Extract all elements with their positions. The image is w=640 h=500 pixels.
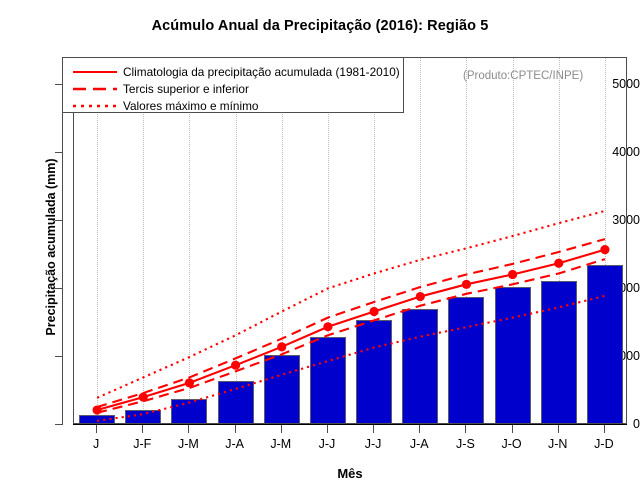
climatology-point xyxy=(508,270,517,279)
climatology-point xyxy=(323,322,332,331)
legend-item-0: Climatologia da precipitação acumulada (… xyxy=(63,64,403,80)
legend-label: Valores máximo e mínimo xyxy=(123,99,259,113)
x-tick xyxy=(373,425,374,433)
line-dotted xyxy=(97,211,605,398)
page-title: Acúmulo Anual da Precipitação (2016): Re… xyxy=(0,18,640,34)
line-solid xyxy=(97,250,605,410)
legend-label: Tercis superior e inferior xyxy=(123,82,249,96)
legend-item-2: Valores máximo e mínimo xyxy=(63,98,403,114)
x-tick-label-J-A: J-A xyxy=(410,437,429,451)
climatology-point xyxy=(139,393,148,402)
x-tick xyxy=(327,425,328,433)
x-tick-label-J-F: J-F xyxy=(133,437,151,451)
x-tick xyxy=(419,425,420,433)
legend: Climatologia da precipitação acumulada (… xyxy=(62,57,404,113)
chart-figure: Acúmulo Anual da Precipitação (2016): Re… xyxy=(0,0,640,500)
x-tick-label-J-M: J-M xyxy=(178,437,199,451)
line-dotted xyxy=(97,296,605,421)
x-tick xyxy=(512,425,513,433)
x-tick xyxy=(235,425,236,433)
climatology-point xyxy=(231,361,240,370)
x-tick xyxy=(188,425,189,433)
legend-item-1: Tercis superior e inferior xyxy=(63,81,403,97)
climatology-point xyxy=(416,292,425,301)
y-axis-line xyxy=(62,80,63,424)
climatology-point xyxy=(369,307,378,316)
y-axis-title: Precipitação acumulada (mm) xyxy=(44,117,58,377)
x-tick-label-J-M: J-M xyxy=(270,437,291,451)
legend-label: Climatologia da precipitação acumulada (… xyxy=(123,65,400,79)
line-dashed xyxy=(97,239,605,407)
x-tick-label-J: J xyxy=(93,437,99,451)
y-tick xyxy=(55,152,63,153)
product-tag: (Produto:CPTEC/INPE) xyxy=(463,70,583,82)
x-tick-label-J-O: J-O xyxy=(502,437,522,451)
x-tick xyxy=(96,425,97,433)
x-tick xyxy=(465,425,466,433)
y-tick xyxy=(55,288,63,289)
climatology-point xyxy=(554,259,563,268)
legend-key-solid xyxy=(71,65,123,79)
climatology-point xyxy=(92,405,101,414)
legend-key-dashed xyxy=(71,82,123,96)
x-tick-label-J-D: J-D xyxy=(594,437,613,451)
climatology-point xyxy=(277,342,286,351)
climatology-point xyxy=(185,378,194,387)
x-tick-label-J-J: J-J xyxy=(365,437,382,451)
climatology-point xyxy=(462,280,471,289)
y-axis-title-holder: Precipitação acumulada (mm) xyxy=(16,56,36,424)
y-tick xyxy=(55,424,63,425)
x-tick-label-J-S: J-S xyxy=(456,437,475,451)
climatology-point xyxy=(600,245,609,254)
x-tick-label-J-J: J-J xyxy=(319,437,336,451)
line-dashed xyxy=(97,259,605,413)
x-axis-title: Mês xyxy=(73,466,627,481)
x-tick xyxy=(142,425,143,433)
x-tick xyxy=(281,425,282,433)
y-tick xyxy=(55,356,63,357)
x-tick xyxy=(604,425,605,433)
x-tick xyxy=(558,425,559,433)
y-tick xyxy=(55,220,63,221)
x-tick-label-J-N: J-N xyxy=(548,437,567,451)
legend-key-dotted xyxy=(71,99,123,113)
x-tick-label-J-A: J-A xyxy=(225,437,244,451)
